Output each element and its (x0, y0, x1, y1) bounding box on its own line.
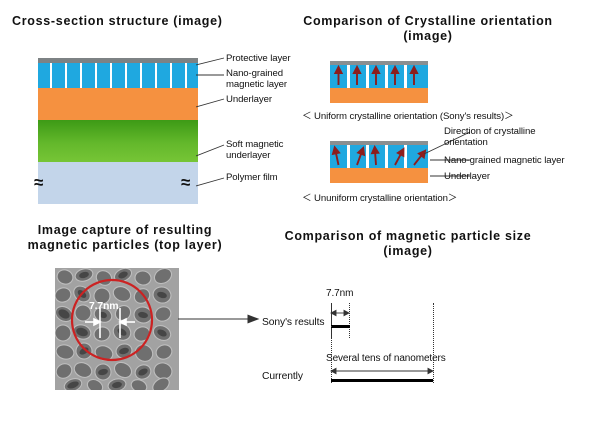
size-bar-sonys-results (331, 325, 350, 328)
ununiform-orientation-caption: ＜ Ununiform crystalline orientation＞ (302, 190, 457, 204)
wavy-boundary (38, 156, 198, 172)
label-underlayer-crystalline: Underlayer (444, 171, 490, 182)
cross-section-diagram: ≈ ≈ (38, 58, 198, 204)
grain-gap (50, 63, 52, 88)
nano-grained-layer-band (38, 63, 198, 88)
grain-gap (65, 63, 67, 88)
label-nano-grained-layer: Nano-grained magnetic layer (226, 68, 287, 91)
grain-gap (185, 63, 187, 88)
uniform-arrows (330, 61, 428, 103)
underlayer-band (38, 88, 198, 120)
tem-particle-image: 7.7nm (55, 268, 179, 390)
cross-section-title: Cross-section structure (image) (12, 14, 242, 29)
grain-gap (125, 63, 127, 88)
label-soft-magnetic-underlayer: Soft magnetic underlayer (226, 139, 283, 162)
grain-gap (95, 63, 97, 88)
break-symbol-right: ≈ (181, 174, 190, 191)
dimension-arrow-several-tens (330, 365, 436, 377)
grain-gap (80, 63, 82, 88)
tem-grain-texture (55, 268, 179, 390)
grain-gap (110, 63, 112, 88)
dimension-arrow-7-7nm (330, 307, 352, 319)
label-direction-of-crystalline-orientation: Direction of crystalline orientation (444, 126, 535, 149)
measure-label-7-7nm: 7.7nm (326, 288, 353, 299)
tem-title: Image capture of resulting magnetic part… (20, 223, 230, 253)
label-protective-layer: Protective layer (226, 53, 291, 64)
size-bar-currently (331, 379, 433, 382)
break-symbol-left: ≈ (34, 174, 43, 191)
grain-gap (155, 63, 157, 88)
size-comparison-title: Comparison of magnetic particle size (im… (258, 229, 558, 259)
tem-scale-label: 7.7nm (89, 300, 118, 312)
tem-to-sony-arrow (178, 312, 260, 326)
uniform-orientation-diagram (330, 61, 428, 103)
label-underlayer: Underlayer (226, 94, 272, 105)
measure-label-several-tens: Several tens of nanometers (326, 353, 446, 364)
label-polymer-film: Polymer film (226, 172, 278, 183)
label-nano-grained-magnetic-layer: Nano-grained magnetic layer (444, 155, 565, 166)
grain-gap (140, 63, 142, 88)
crystalline-title: Comparison of Crystalline orientation (i… (278, 14, 578, 44)
row-label-sonys-results: Sony's results (262, 317, 324, 328)
grain-gap (170, 63, 172, 88)
uniform-orientation-caption: ＜ Uniform crystalline orientation (Sony'… (302, 108, 514, 122)
row-label-currently: Currently (262, 371, 303, 382)
